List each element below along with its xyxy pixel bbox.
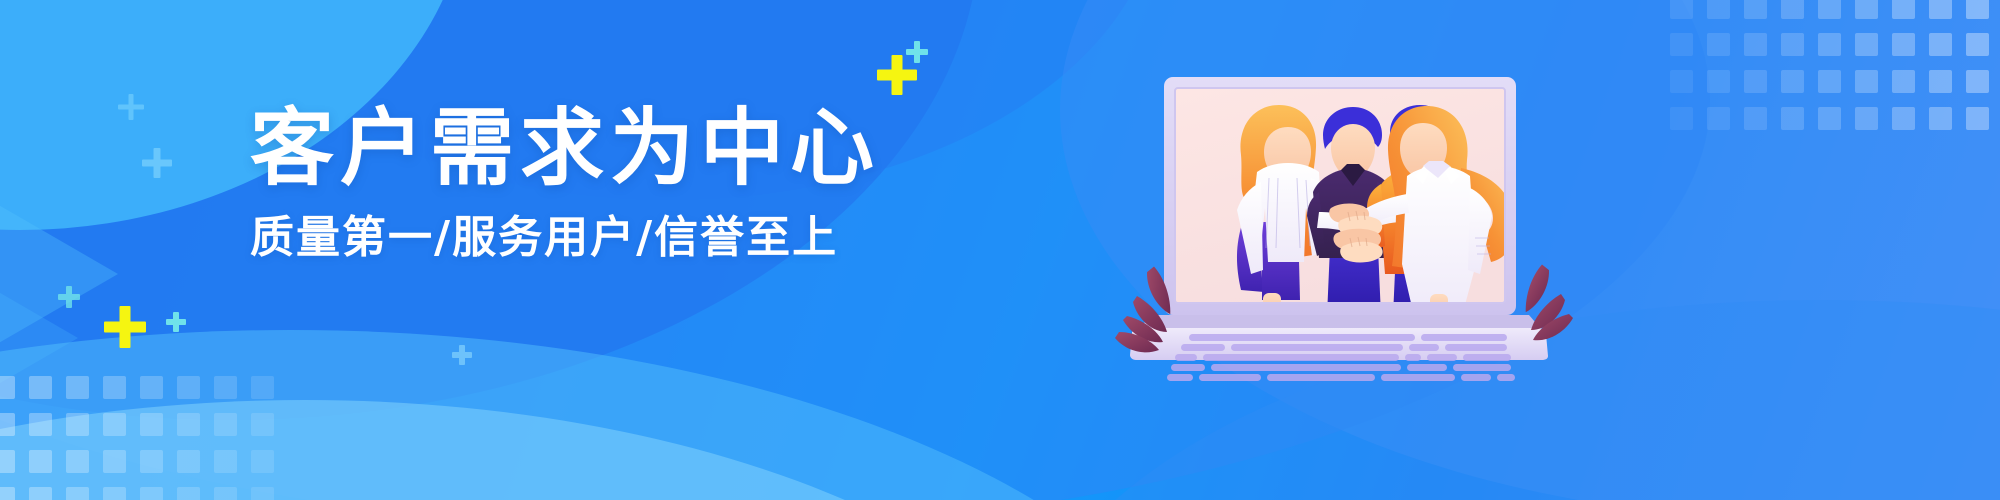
grid-dot (1892, 0, 1915, 19)
grid-dot (1707, 70, 1730, 93)
page-title: 客户需求为中心 (250, 106, 810, 190)
grid-dot (1966, 107, 1989, 130)
grid-dot (214, 376, 237, 399)
grid-dot (1781, 33, 1804, 56)
grid-dot (1707, 107, 1730, 130)
grid-dot (1929, 33, 1952, 56)
grid-dot (1966, 0, 1989, 19)
grid-dot (140, 487, 163, 500)
grid-dot (1818, 0, 1841, 19)
grid-dot (1818, 107, 1841, 130)
grid-dot (251, 487, 274, 500)
dot-grid-top-right (1670, 0, 2000, 126)
grid-dot (0, 413, 15, 436)
grid-dot (214, 450, 237, 473)
plus-yellow-large-left (104, 306, 146, 348)
grid-dot (66, 450, 89, 473)
grid-dot (177, 376, 200, 399)
grid-dot (1670, 0, 1693, 19)
plus-cyan-small-left (166, 312, 186, 332)
grid-dot (1929, 107, 1952, 130)
grid-dot (1892, 107, 1915, 130)
grid-dot (140, 413, 163, 436)
grid-dot (1892, 33, 1915, 56)
plus-cyan-small-lower (58, 286, 80, 308)
grid-dot (29, 450, 52, 473)
plus-cyan-small-center (906, 41, 928, 63)
grid-dot (66, 487, 89, 500)
grid-dot (177, 413, 200, 436)
grid-dot (29, 413, 52, 436)
grid-dot (1929, 0, 1952, 19)
grid-dot (1855, 33, 1878, 56)
grid-dot (1855, 0, 1878, 19)
grid-dot (1744, 70, 1767, 93)
plus-cyan-mid (142, 148, 172, 178)
grid-dot (140, 450, 163, 473)
grid-dot (1781, 107, 1804, 130)
grid-dot (66, 376, 89, 399)
grid-dot (1892, 70, 1915, 93)
dot-grid-bottom-left (0, 376, 292, 500)
grid-dot (0, 450, 15, 473)
banner-text-block: 客户需求为中心 质量第一/服务用户/信誉至上 (250, 106, 810, 260)
grid-dot (1966, 70, 1989, 93)
grid-dot (103, 487, 126, 500)
plus-yellow-large-center (877, 55, 917, 95)
grid-dot (1670, 70, 1693, 93)
background-wave-bottom-light (0, 400, 1130, 500)
grid-dot (1707, 0, 1730, 19)
grid-dot (1781, 70, 1804, 93)
grid-dot (177, 450, 200, 473)
grid-dot (103, 413, 126, 436)
grid-dot (251, 450, 274, 473)
grid-dot (0, 376, 15, 399)
grid-dot (140, 376, 163, 399)
grid-dot (1744, 33, 1767, 56)
grid-dot (1855, 70, 1878, 93)
grid-dot (29, 487, 52, 500)
plus-cyan-tiny-topleft (118, 94, 144, 120)
grid-dot (29, 376, 52, 399)
plus-cyan-small-bottom (452, 345, 472, 365)
grid-dot (66, 413, 89, 436)
grid-dot (1818, 70, 1841, 93)
grid-dot (214, 413, 237, 436)
grid-dot (0, 487, 15, 500)
grid-dot (1670, 107, 1693, 130)
grid-dot (1966, 33, 1989, 56)
grid-dot (1670, 33, 1693, 56)
grid-dot (251, 376, 274, 399)
grid-dot (251, 413, 274, 436)
page-subtitle: 质量第一/服务用户/信誉至上 (250, 216, 810, 260)
grid-dot (1744, 107, 1767, 130)
laptop-team-illustration (1145, 60, 1565, 360)
grid-dot (1929, 70, 1952, 93)
grid-dot (1781, 0, 1804, 19)
grid-dot (177, 487, 200, 500)
grid-dot (1744, 0, 1767, 19)
grid-dot (103, 450, 126, 473)
promo-banner: 客户需求为中心 质量第一/服务用户/信誉至上 (0, 0, 2000, 500)
background-wave-lower-arc (0, 330, 1240, 500)
grid-dot (214, 487, 237, 500)
grid-dot (1855, 107, 1878, 130)
grid-dot (103, 376, 126, 399)
grid-dot (1818, 33, 1841, 56)
grid-dot (1707, 33, 1730, 56)
